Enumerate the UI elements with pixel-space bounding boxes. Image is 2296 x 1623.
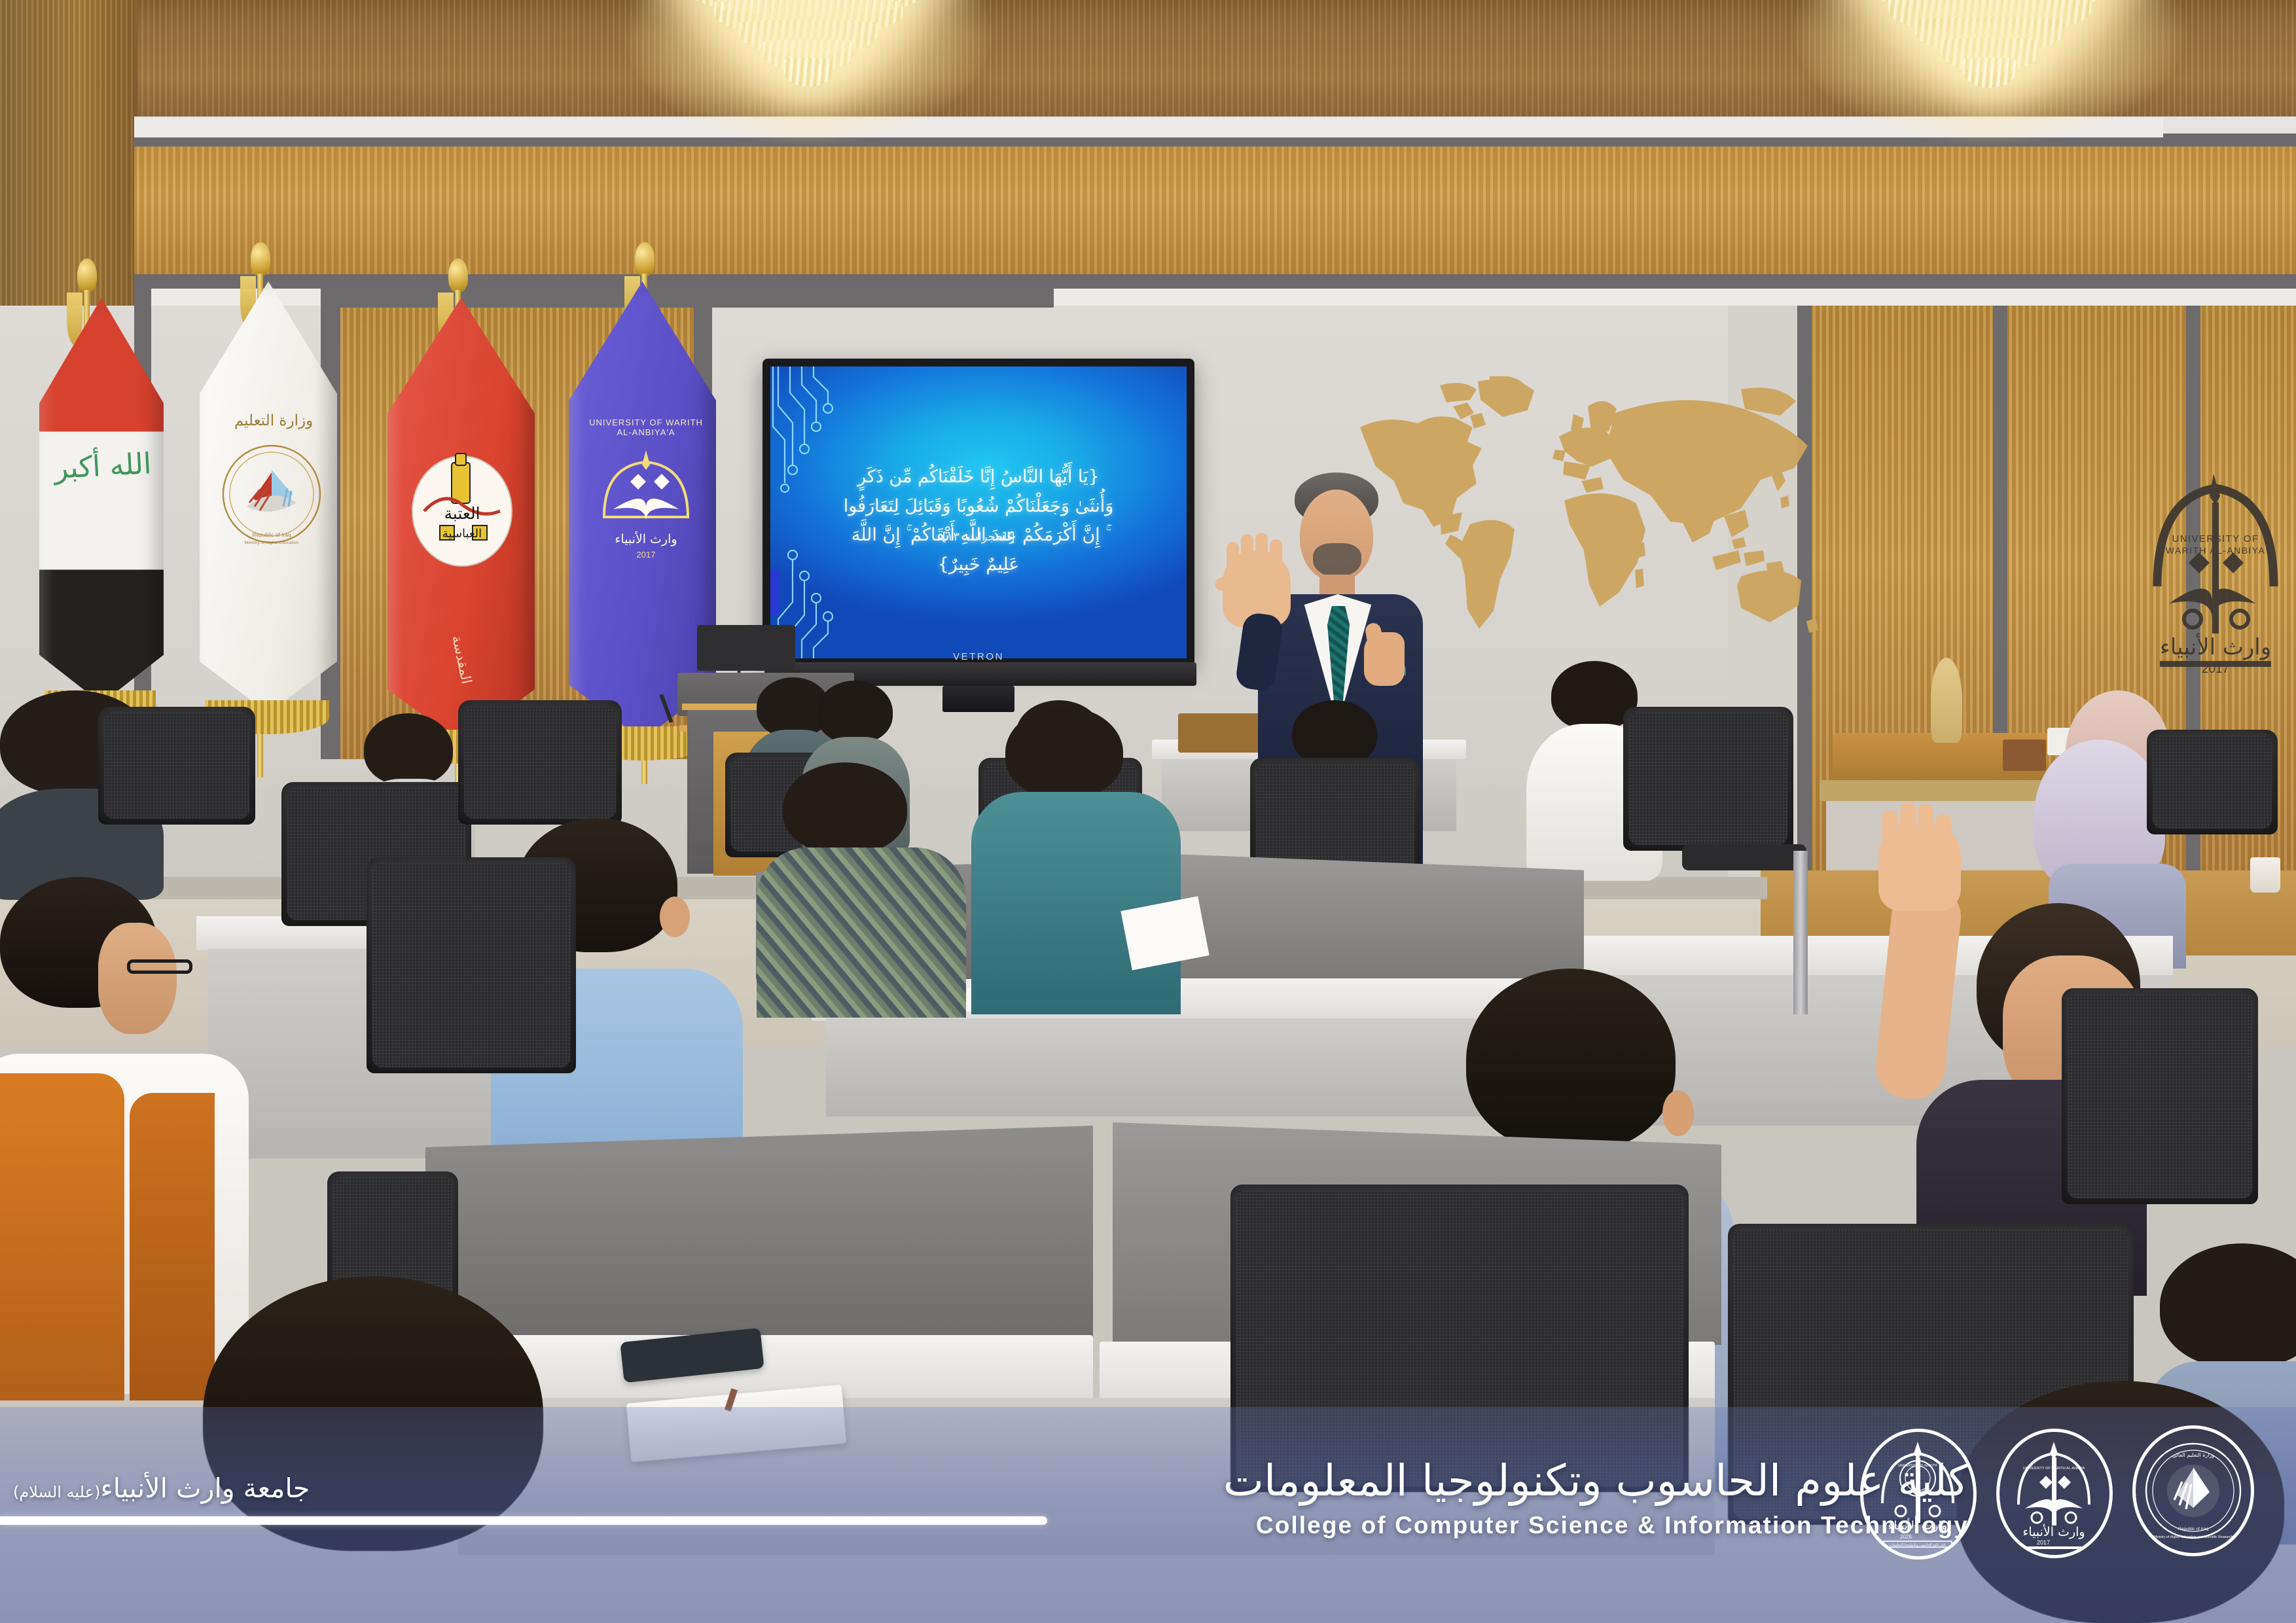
student-hair [1292, 700, 1377, 767]
student-forearm [1873, 880, 1964, 1102]
svg-text:WARITH AL-ANBIYA: WARITH AL-ANBIYA [2166, 545, 2265, 556]
presenter-finger [1227, 542, 1239, 572]
svg-text:Republic of Iraq: Republic of Iraq [252, 531, 291, 538]
student-teal-shirt [969, 707, 1185, 1021]
svg-text:العباسية: العباسية [442, 527, 482, 541]
flagpole-finial [635, 242, 655, 276]
svg-text:وزارة التعليم العالي: وزارة التعليم العالي [2172, 1452, 2215, 1458]
student-hair [1466, 969, 1676, 1152]
svg-text:وارث الأنبياء: وارث الأنبياء [615, 531, 677, 546]
svg-text:UNIVERSITY OF: UNIVERSITY OF [2172, 533, 2259, 544]
student-torso [757, 847, 966, 1018]
eyeglasses[interactable] [127, 959, 192, 974]
svg-text:Ministry of Higher Education a: Ministry of Higher Education and Scienti… [2154, 1535, 2233, 1539]
college-seal-logo: UNIVERSITY OF WARITH وارث الأنبياء 2025 … [1860, 1429, 1977, 1560]
chair [2147, 730, 2278, 834]
student-hair [2160, 1243, 2296, 1368]
student-finger [1900, 802, 1916, 843]
student-ear [1662, 1090, 1694, 1136]
student-patterned-jacket [753, 762, 969, 1011]
flag-inscription-iraq: الله أكبر [46, 447, 159, 486]
student-finger [1918, 804, 1933, 843]
flagpole-finial [77, 259, 97, 293]
wooden-sculpture [1931, 658, 1962, 743]
svg-text:وارث الأنبياء: وارث الأنبياء [2160, 633, 2271, 660]
svg-text:2017: 2017 [2037, 1539, 2050, 1546]
shrine-emblem: العتبة العباسية [404, 448, 519, 579]
display-brand-label: VETRON [762, 651, 1194, 662]
svg-text:2017: 2017 [637, 550, 656, 560]
svg-text:كلية علوم الحاسوب وتكنولوجيا ا: كلية علوم الحاسوب وتكنولوجيا المعلومات [1890, 1543, 1946, 1547]
footer-university-honorific: (عليه السلام) [13, 1483, 100, 1501]
svg-text:Republic of Iraq: Republic of Iraq [2178, 1527, 2209, 1531]
svg-text:Ministry of Higher Education: Ministry of Higher Education [245, 541, 299, 545]
svg-text:وارث الأنبياء: وارث الأنبياء [1888, 1518, 1947, 1533]
college-seal-art: UNIVERSITY OF WARITH وارث الأنبياء 2025 … [1869, 1438, 1967, 1550]
footer-university-name: جامعة وارث الأنبياء [100, 1472, 310, 1504]
student-hair [364, 713, 453, 785]
flagpole-finial [251, 242, 270, 276]
svg-text:2025: 2025 [1900, 1534, 1912, 1540]
chair [458, 700, 622, 825]
photo-canvas: الله أكبر Republic of Iraq Ministry of H… [0, 0, 2296, 1623]
university-seal-art: UNIVERSITY OF WARITH AL-ANBIYA وارث الأن… [2005, 1438, 2104, 1549]
presentation-display[interactable]: {يَا أَيُّهَا النَّاسُ إِنَّا خَلَقْنَاك… [762, 359, 1194, 666]
student-hair [817, 681, 893, 743]
svg-text:العتبة: العتبة [444, 504, 480, 523]
university-seal-logo: UNIVERSITY OF WARITH AL-ANBIYA وارث الأن… [1996, 1429, 2113, 1558]
student-ear [660, 897, 690, 937]
svg-text:وارث الأنبياء: وارث الأنبياء [2022, 1524, 2085, 1539]
footer-divider-line [0, 1516, 1047, 1525]
presenter-finger [1255, 533, 1268, 571]
student-sweater-vest [0, 1073, 124, 1400]
chair [98, 707, 255, 825]
ministry-emblem: Republic of Iraq Ministry of Higher Educ… [219, 438, 324, 550]
presenter-finger [1241, 534, 1253, 571]
flag-inscription-university-en: UNIVERSITY OF WARITH AL-ANBIYA'A [587, 418, 705, 437]
university-flag-emblem: وارث الأنبياء 2017 [587, 438, 705, 576]
chair-arm [1682, 844, 1806, 870]
chair-post [1793, 851, 1808, 1014]
chair [1623, 707, 1793, 851]
student-sweater-vest-right [130, 1093, 215, 1400]
flag-ministry: Republic of Iraq Ministry of Higher Educ… [187, 242, 363, 779]
flagpole-finial [448, 259, 468, 293]
footer-college-english: College of Computer Science & Informatio… [1223, 1512, 1969, 1539]
quran-verse-citation: [الحجرات: ١٣] [770, 530, 1187, 544]
svg-text:UNIVERSITY OF WARITH AL-ANBIYA: UNIVERSITY OF WARITH AL-ANBIYA [2023, 1467, 2085, 1471]
presenter-finger [1270, 539, 1282, 572]
chair [2062, 988, 2258, 1204]
display-screen-content: {يَا أَيُّهَا النَّاسُ إِنَّا خَلَقْنَاك… [770, 366, 1187, 658]
speaker-box [697, 625, 795, 671]
chandelier-right [1826, 0, 2153, 124]
student-torso [971, 792, 1181, 1014]
student-face-profile [98, 923, 177, 1034]
desk-divider-right [1172, 854, 1584, 978]
student-hair [1005, 707, 1123, 798]
flag-cloth-iraq [39, 298, 164, 704]
footer-college-block: كلية علوم الحاسوب وتكنولوجيا المعلومات C… [1223, 1457, 1969, 1539]
footer-university-arabic: جامعة وارث الأنبياء(عليه السلام) [13, 1472, 310, 1504]
chandelier-left [655, 0, 962, 124]
flag-inscription-ministry: وزارة التعليم [224, 412, 323, 429]
student-finger [1935, 814, 1951, 846]
display-led-strip [770, 569, 779, 615]
university-wall-seal: UNIVERSITY OF WARITH AL-ANBIYA وارث الأن… [2140, 465, 2291, 681]
footer-college-arabic: كلية علوم الحاسوب وتكنولوجيا المعلومات [1223, 1457, 1969, 1505]
paper-cup [2250, 857, 2280, 893]
student-hair [783, 762, 907, 854]
ministry-seal-art: وزارة التعليم العالي Republic of Iraq Mi… [2142, 1435, 2245, 1547]
chair [367, 857, 576, 1073]
svg-text:UNIVERSITY OF WARITH: UNIVERSITY OF WARITH [1898, 1464, 1937, 1468]
presenter-beard [1313, 543, 1361, 577]
quran-verse-text: {يَا أَيُّهَا النَّاسُ إِنَّا خَلَقْنَاك… [770, 463, 1187, 579]
ministry-seal-logo: وزارة التعليم العالي Republic of Iraq Mi… [2132, 1425, 2254, 1556]
student-finger [1882, 810, 1898, 844]
